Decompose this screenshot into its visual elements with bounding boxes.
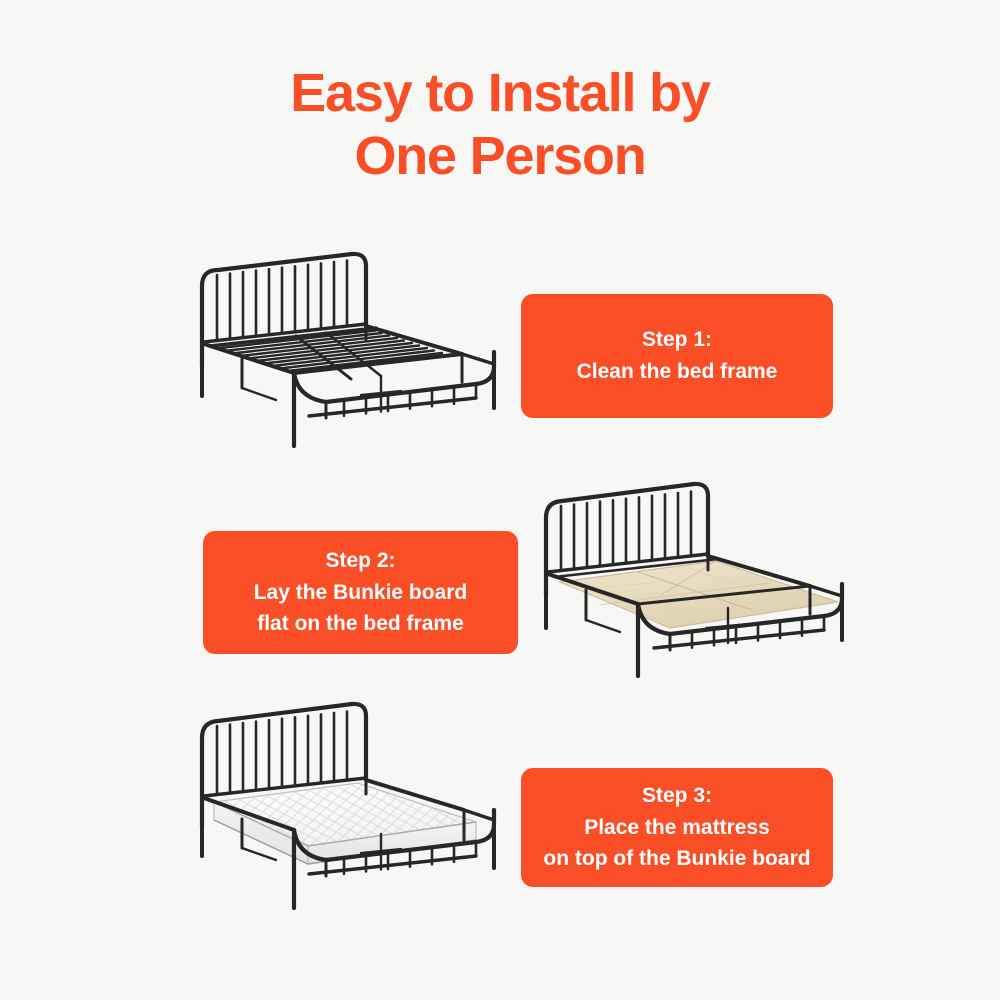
step-3-body-line-2: on top of the Bunkie board [543, 843, 810, 875]
page-title-line-2: One Person [0, 125, 1000, 188]
step-1-body-line-1: Clean the bed frame [577, 356, 778, 388]
step-2-heading: Step 2: [325, 545, 395, 577]
page-title: Easy to Install by One Person [0, 62, 1000, 187]
step-1-heading: Step 1: [642, 324, 712, 356]
step-2-body-line-2: flat on the bed frame [257, 608, 464, 640]
bed-frame-with-bunkie-board-illustration-step-2 [538, 478, 878, 681]
step-2-body-line-1: Lay the Bunkie board [254, 577, 468, 609]
bed-frame-illustration-step-1 [176, 248, 528, 452]
step-3-heading: Step 3: [642, 780, 712, 812]
step-3-body-line-1: Place the mattress [584, 812, 770, 844]
step-card-3: Step 3: Place the mattress on top of the… [521, 768, 833, 887]
bed-frame-with-mattress-illustration-step-3 [176, 698, 528, 916]
infographic-page: Easy to Install by One Person [0, 0, 1000, 1000]
step-card-2: Step 2: Lay the Bunkie board flat on the… [203, 531, 518, 654]
step-card-1: Step 1: Clean the bed frame [521, 294, 833, 418]
page-title-line-1: Easy to Install by [0, 62, 1000, 125]
